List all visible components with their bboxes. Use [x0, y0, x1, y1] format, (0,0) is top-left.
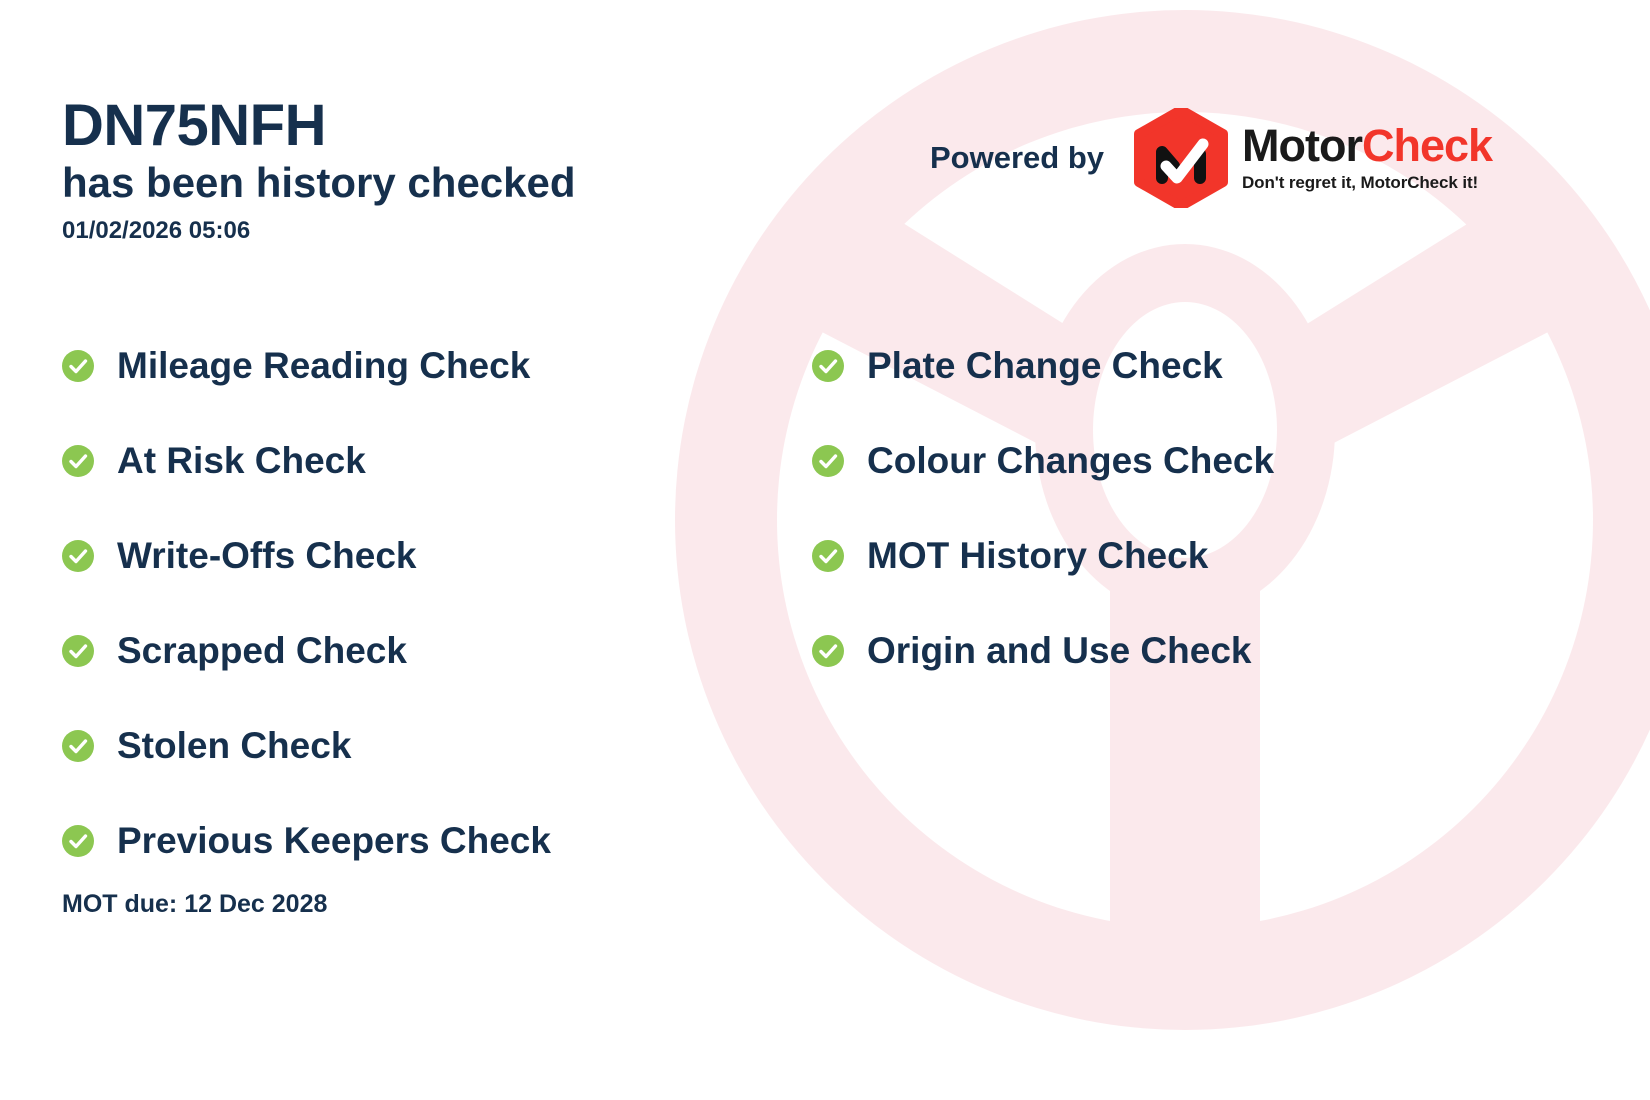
green-check-circle-icon	[812, 540, 844, 572]
green-check-circle-icon	[62, 635, 94, 667]
check-item: Plate Change Check	[812, 318, 1274, 413]
powered-by-block: Powered by MotorCheck	[930, 108, 1492, 208]
motorcheck-hexagon-logo-icon	[1134, 108, 1228, 208]
check-label: Origin and Use Check	[867, 632, 1252, 669]
motorcheck-logo[interactable]: MotorCheck Don't regret it, MotorCheck i…	[1134, 108, 1492, 208]
check-label: Mileage Reading Check	[117, 347, 530, 384]
vehicle-history-check-card: DN75NFH has been history checked 01/02/2…	[0, 0, 1650, 1100]
check-item: Colour Changes Check	[812, 413, 1274, 508]
header-block: DN75NFH has been history checked 01/02/2…	[62, 96, 576, 245]
green-check-circle-icon	[812, 635, 844, 667]
check-item: Origin and Use Check	[812, 603, 1274, 698]
green-check-circle-icon	[62, 825, 94, 857]
mot-due-date: MOT due: 12 Dec 2028	[62, 890, 327, 919]
check-label: At Risk Check	[117, 442, 366, 479]
check-item: MOT History Check	[812, 508, 1274, 603]
green-check-circle-icon	[62, 730, 94, 762]
check-label: MOT History Check	[867, 537, 1208, 574]
check-item: At Risk Check	[62, 413, 551, 508]
check-item: Previous Keepers Check	[62, 793, 551, 888]
registration-plate: DN75NFH	[62, 96, 576, 155]
header-subtitle: has been history checked	[62, 159, 576, 207]
check-label: Previous Keepers Check	[117, 822, 551, 859]
check-item: Stolen Check	[62, 698, 551, 793]
green-check-circle-icon	[812, 350, 844, 382]
logo-word-motor: Motor	[1242, 120, 1362, 171]
check-label: Write-Offs Check	[117, 537, 417, 574]
check-label: Scrapped Check	[117, 632, 407, 669]
check-label: Stolen Check	[117, 727, 351, 764]
motorcheck-wordmark: MotorCheck	[1242, 123, 1492, 168]
check-timestamp: 01/02/2026 05:06	[62, 217, 576, 245]
powered-by-label: Powered by	[930, 140, 1104, 176]
checks-column-left: Mileage Reading Check At Risk Check Writ…	[62, 318, 551, 888]
green-check-circle-icon	[62, 350, 94, 382]
check-item: Scrapped Check	[62, 603, 551, 698]
motorcheck-tagline: Don't regret it, MotorCheck it!	[1242, 173, 1492, 193]
green-check-circle-icon	[812, 445, 844, 477]
check-item: Write-Offs Check	[62, 508, 551, 603]
logo-word-check: Check	[1362, 120, 1492, 171]
check-item: Mileage Reading Check	[62, 318, 551, 413]
check-label: Plate Change Check	[867, 347, 1223, 384]
check-label: Colour Changes Check	[867, 442, 1274, 479]
checks-column-right: Plate Change Check Colour Changes Check …	[812, 318, 1274, 698]
green-check-circle-icon	[62, 445, 94, 477]
green-check-circle-icon	[62, 540, 94, 572]
